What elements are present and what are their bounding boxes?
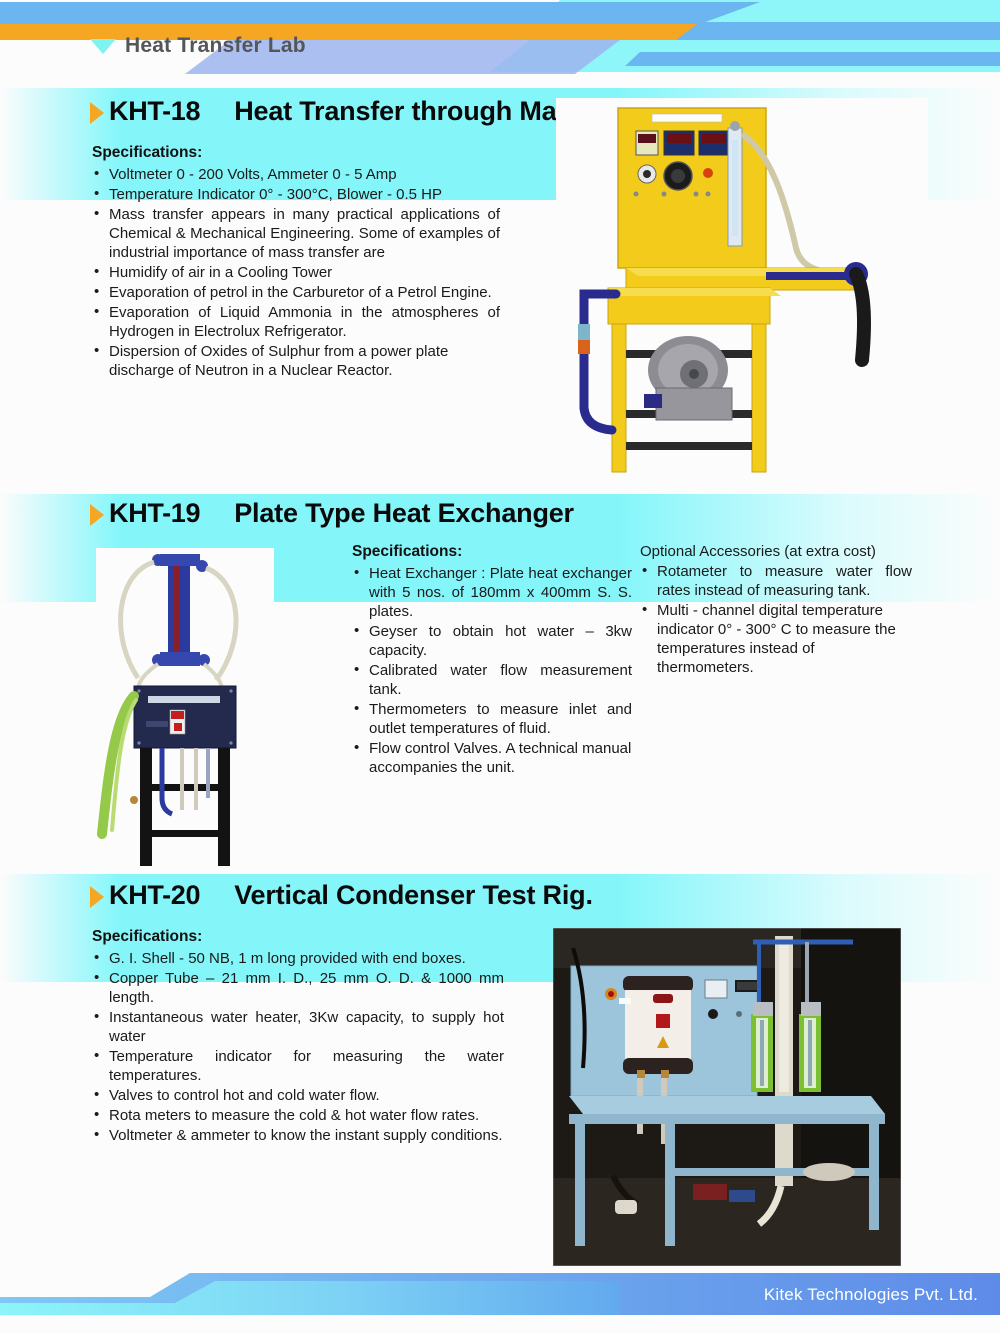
list-item: Rota meters to measure the cold & hot wa… [92, 1106, 504, 1125]
triangle-right-icon [90, 504, 104, 526]
product-photo-kht19 [96, 548, 274, 872]
list-item: Temperature Indicator 0° - 300°C, Blower… [92, 185, 500, 204]
triangle-right-icon [90, 886, 104, 908]
list-item: Copper Tube – 21 mm I. D., 25 mm O. D. &… [92, 969, 504, 1007]
specs-heading: Specifications: [92, 928, 504, 946]
list-item: Geyser to obtain hot water – 3kw capacit… [352, 622, 632, 660]
specs-block-kht20: Specifications: G. I. Shell - 50 NB, 1 m… [92, 928, 504, 1146]
section-heading-kht20: KHT-20 Vertical Condenser Test Rig. [90, 880, 593, 911]
section-title: Heat Transfer through Mass [234, 96, 586, 127]
list-item: Voltmeter 0 - 200 Volts, Ammeter 0 - 5 A… [92, 165, 500, 184]
section-code: KHT-18 [109, 96, 200, 127]
optional-accessories-list: Rotameter to measure water flow rates in… [640, 562, 912, 677]
specs-list-kht19: Heat Exchanger : Plate heat exchanger wi… [352, 564, 632, 778]
section-title: Plate Type Heat Exchanger [234, 498, 574, 529]
list-item: Dispersion of Oxides of Sulphur from a p… [92, 342, 500, 380]
list-item: Thermometers to measure inlet and outlet… [352, 700, 632, 738]
list-item: Heat Exchanger : Plate heat exchanger wi… [352, 564, 632, 621]
list-item: Evaporation of Liquid Ammonia in the atm… [92, 303, 500, 341]
specs-list-kht18: Voltmeter 0 - 200 Volts, Ammeter 0 - 5 A… [92, 165, 500, 381]
list-item: Mass transfer appears in many practical … [92, 205, 500, 262]
list-item: Voltmeter & ammeter to know the instant … [92, 1126, 504, 1145]
list-item: Multi - channel digital temperature indi… [640, 601, 912, 677]
list-item: Flow control Valves. A technical manual … [352, 739, 632, 777]
section-title: Vertical Condenser Test Rig. [234, 880, 593, 911]
section-heading-kht18: KHT-18 Heat Transfer through Mass [90, 96, 586, 127]
product-photo-kht20 [553, 928, 901, 1266]
list-item: G. I. Shell - 50 NB, 1 m long provided w… [92, 949, 504, 968]
list-item: Temperature indicator for measuring the … [92, 1047, 504, 1085]
list-item: Valves to control hot and cold water flo… [92, 1086, 504, 1105]
specs-block-kht19: Specifications: Heat Exchanger : Plate h… [352, 543, 632, 779]
section-code: KHT-20 [109, 880, 200, 911]
list-item: Instantaneous water heater, 3Kw capacity… [92, 1008, 504, 1046]
specs-block-kht18: Specifications: Voltmeter 0 - 200 Volts,… [92, 144, 500, 382]
section-code: KHT-19 [109, 498, 200, 529]
list-item: Evaporation of petrol in the Carburetor … [92, 283, 500, 302]
specs-list-kht20: G. I. Shell - 50 NB, 1 m long provided w… [92, 949, 504, 1145]
specs-heading: Specifications: [92, 144, 500, 162]
triangle-right-icon [90, 102, 104, 124]
footer-company-name: Kitek Technologies Pvt. Ltd. [764, 1285, 978, 1305]
specs-heading: Specifications: [352, 543, 632, 561]
section-heading-kht19: KHT-19 Plate Type Heat Exchanger [90, 498, 574, 529]
optional-accessories-block: Optional Accessories (at extra cost) Rot… [640, 543, 912, 678]
list-item: Calibrated water flow measurement tank. [352, 661, 632, 699]
list-item: Rotameter to measure water flow rates in… [640, 562, 912, 600]
document-page: Heat Transfer Lab [0, 0, 1000, 1333]
list-item: Humidify of air in a Cooling Tower [92, 263, 500, 282]
optional-accessories-heading: Optional Accessories (at extra cost) [640, 543, 912, 560]
product-photo-kht18 [556, 98, 928, 490]
